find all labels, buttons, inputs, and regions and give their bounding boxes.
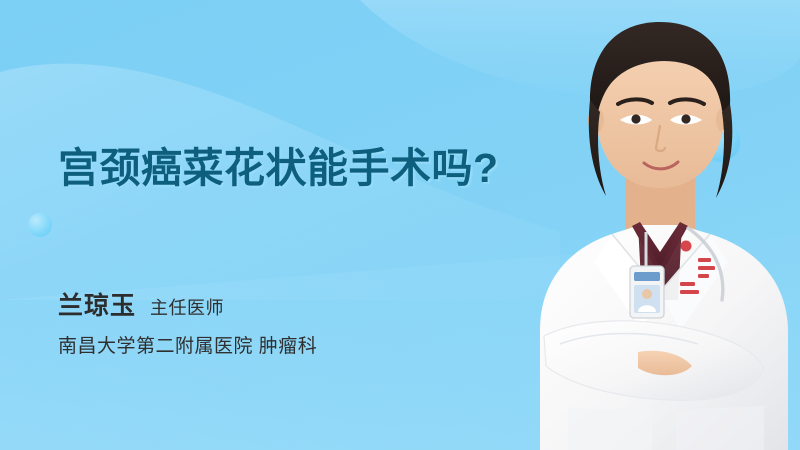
doctor-rank: 主任医师 [150, 294, 224, 320]
doctor-affiliation: 南昌大学第二附属医院 肿瘤科 [58, 331, 317, 358]
coat-pocket-right [676, 406, 764, 450]
decorative-bubble-small [28, 213, 52, 237]
page-title: 宫颈癌菜花状能手术吗? [58, 148, 499, 189]
coat-pocket [568, 408, 652, 450]
doctor-byline: 兰琼玉 主任医师 [58, 286, 224, 322]
doctor-portrait [520, 0, 800, 450]
doctor-name: 兰琼玉 [58, 286, 136, 322]
video-thumbnail-card: 宫颈癌菜花状能手术吗? 兰琼玉 主任医师 南昌大学第二附属医院 肿瘤科 [0, 0, 800, 450]
